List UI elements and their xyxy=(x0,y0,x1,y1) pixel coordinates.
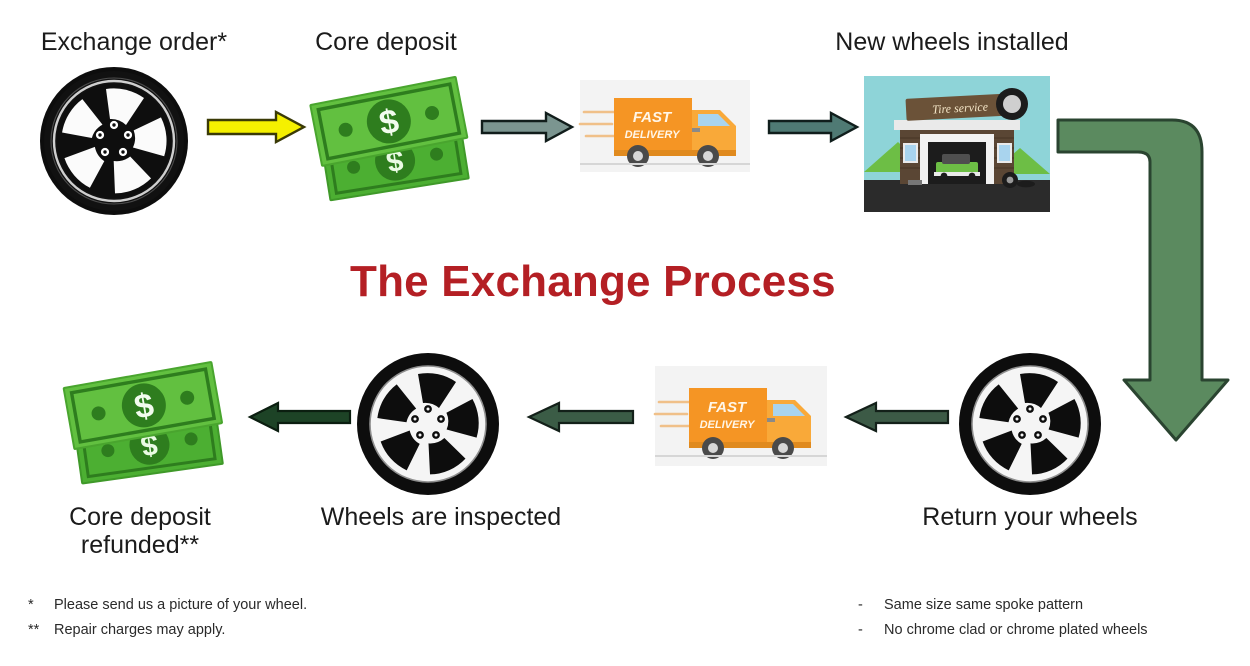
footnote-text: Repair charges may apply. xyxy=(54,618,225,643)
footnote-text: Please send us a picture of your wheel. xyxy=(54,593,307,618)
wheel-light-icon xyxy=(958,352,1102,496)
label-wheels-inspected: Wheels are inspected xyxy=(296,503,586,531)
footnote-item: * Please send us a picture of your wheel… xyxy=(28,593,307,618)
label-core-deposit-refunded: Core deposit refunded** xyxy=(26,503,254,559)
footnote-item: ** Repair charges may apply. xyxy=(28,618,307,643)
arrow-truck-to-inspected xyxy=(525,400,635,434)
arrow-return-to-truck xyxy=(842,400,950,434)
footnote-marker: - xyxy=(858,593,875,618)
footnote-marker: - xyxy=(858,618,875,643)
arrow-inspected-to-refund xyxy=(246,400,352,434)
truck-text-line1: FAST xyxy=(708,399,748,416)
page-title: The Exchange Process xyxy=(350,257,836,307)
truck-text-line2: DELIVERY xyxy=(625,129,681,141)
wheel-dark-icon xyxy=(38,66,190,216)
exchange-process-diagram: Exchange order* Core deposit New wheels … xyxy=(0,0,1250,666)
label-exchange-order: Exchange order* xyxy=(0,28,268,56)
arrow-order-to-deposit xyxy=(206,110,306,144)
delivery-truck-right-icon: FAST DELIVERY xyxy=(580,80,750,172)
wheel-light-icon xyxy=(356,352,500,496)
arrow-deposit-to-truck xyxy=(480,110,574,144)
label-new-wheels-installed: New wheels installed xyxy=(805,28,1099,56)
dollar-bills-icon: $ $ xyxy=(303,70,479,200)
dollar-bills-icon: $ $ xyxy=(56,352,236,484)
arrow-truck-to-shop xyxy=(767,110,859,144)
truck-text-line1: FAST xyxy=(633,109,673,126)
footnotes-left: * Please send us a picture of your wheel… xyxy=(28,593,307,644)
label-core-deposit: Core deposit xyxy=(268,28,504,56)
footnotes-right: - Same size same spoke pattern - No chro… xyxy=(858,593,1148,644)
label-return-your-wheels: Return your wheels xyxy=(896,503,1164,531)
tire-service-shop-icon: Tire service xyxy=(864,76,1050,212)
footnote-item: - No chrome clad or chrome plated wheels xyxy=(858,618,1148,643)
footnote-item: - Same size same spoke pattern xyxy=(858,593,1148,618)
footnote-text: Same size same spoke pattern xyxy=(884,593,1083,618)
truck-text-line2: DELIVERY xyxy=(700,419,756,431)
footnote-text: No chrome clad or chrome plated wheels xyxy=(884,618,1148,643)
footnote-marker: * xyxy=(28,593,45,618)
footnote-marker: ** xyxy=(28,618,45,643)
delivery-truck-left-icon: FAST DELIVERY xyxy=(655,366,827,466)
shop-sign-text: Tire service xyxy=(932,100,989,117)
